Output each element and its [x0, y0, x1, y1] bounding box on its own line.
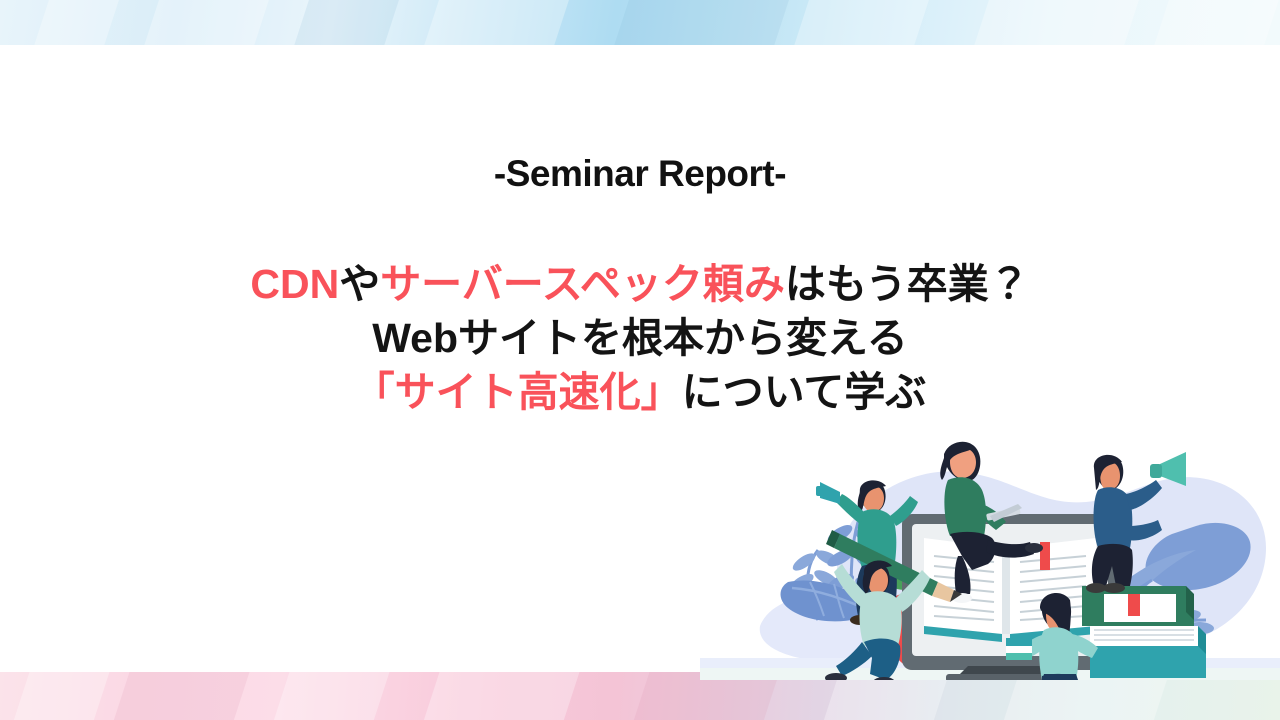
- band-facet: [416, 672, 584, 720]
- e-learning-illustration: [700, 430, 1280, 680]
- band-facet: [106, 672, 254, 720]
- headline-segment: CDN: [250, 261, 339, 307]
- book-stack: [1082, 586, 1206, 678]
- headline-segment: はもう卒業？: [785, 261, 1030, 307]
- slide-canvas: -Seminar Report- CDNやサーバースペック頼みはもう卒業？ We…: [0, 0, 1280, 720]
- carried-books: [1006, 638, 1032, 660]
- headline-segment: 「サイト高速化」: [354, 369, 682, 415]
- band-facet: [266, 672, 394, 720]
- eyebrow-label: -Seminar Report-: [0, 152, 1280, 196]
- headline-line-3: 「サイト高速化」について学ぶ: [0, 365, 1280, 419]
- page-title: CDNやサーバースペック頼みはもう卒業？ Webサイトを根本から変える 「サイト…: [0, 257, 1280, 419]
- band-facet: [417, 0, 573, 45]
- headline-line-2: Webサイトを根本から変える: [0, 311, 1280, 365]
- band-facet: [787, 0, 933, 45]
- band-facet: [287, 0, 403, 45]
- bookmark: [1128, 594, 1140, 616]
- band-facet: [967, 0, 1143, 45]
- band-facet: [1147, 0, 1280, 45]
- headline-segment: について学ぶ: [682, 369, 927, 415]
- headline-line-1: CDNやサーバースペック頼みはもう卒業？: [0, 257, 1280, 311]
- band-facet: [27, 0, 123, 45]
- headline-segment: サーバースペック頼み: [380, 261, 785, 307]
- band-facet: [6, 672, 114, 720]
- band-facet: [137, 0, 273, 45]
- headline-segment: や: [339, 261, 380, 307]
- band-facet: [607, 0, 793, 45]
- top-decorative-band: [0, 0, 1280, 45]
- headline-segment: Webサイトを根本から変える: [372, 315, 908, 361]
